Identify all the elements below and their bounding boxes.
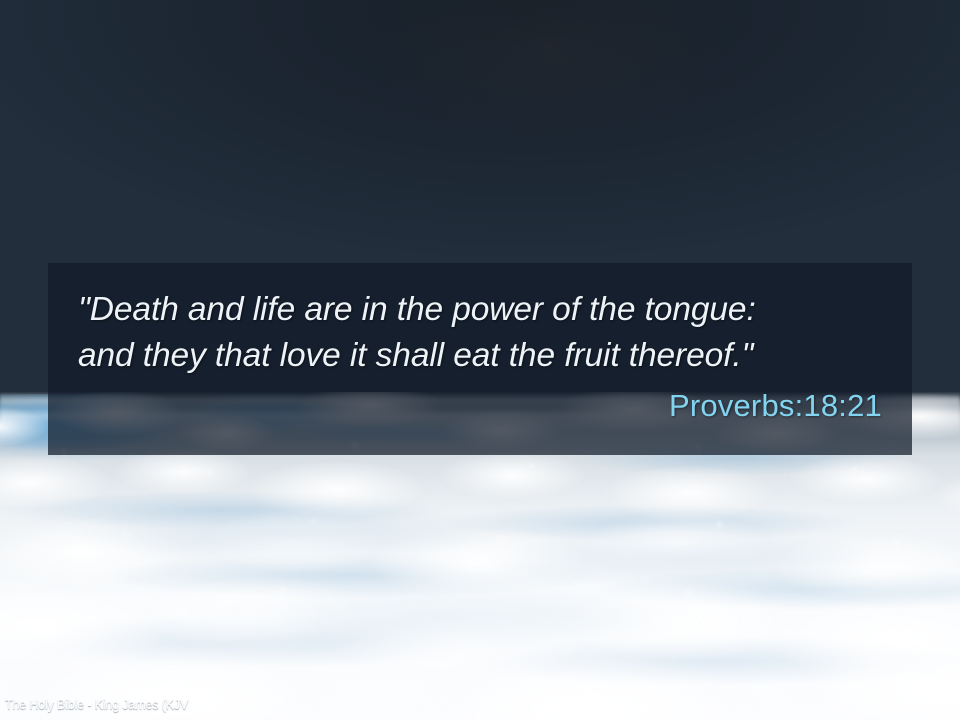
quote-overlay-panel: "Death and life are in the power of the … bbox=[48, 263, 912, 455]
cloud-undershading bbox=[0, 452, 960, 720]
scripture-reference: Proverbs:18:21 bbox=[78, 387, 882, 425]
source-caption: The Holy Bible - King James (KJV bbox=[5, 697, 188, 713]
quote-line-1: "Death and life are in the power of the … bbox=[78, 287, 882, 333]
quote-line-2: and they that love it shall eat the frui… bbox=[78, 333, 882, 379]
quote-text-block: "Death and life are in the power of the … bbox=[78, 287, 882, 379]
slide-canvas: "Death and life are in the power of the … bbox=[0, 0, 960, 720]
